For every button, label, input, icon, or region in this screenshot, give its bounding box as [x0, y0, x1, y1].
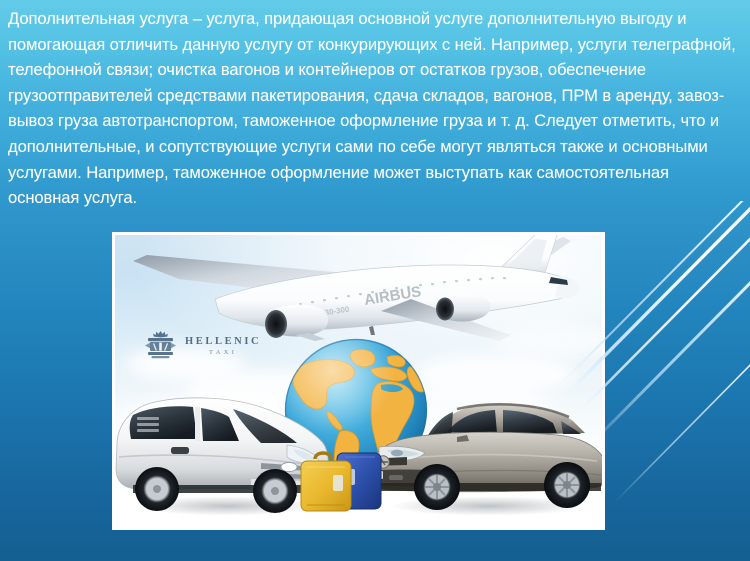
grey-wagon-icon — [361, 387, 602, 515]
hellenic-crest-icon — [145, 330, 176, 363]
hellenic-taxi-logo: HELLENIC TAXI — [145, 330, 261, 363]
hellenic-logo-name: HELLENIC — [185, 337, 261, 348]
slide-body-text: Дополнительная услуга – услуга, придающа… — [8, 6, 742, 211]
hellenic-logo-sub: TAXI — [209, 350, 237, 356]
slide-canvas: Дополнительная услуга – услуга, придающа… — [0, 0, 750, 561]
transport-photo-frame: AIRBUS A330-300 — [112, 232, 605, 530]
transport-photo: AIRBUS A330-300 — [115, 235, 602, 516]
suitcases-icon — [297, 443, 389, 516]
